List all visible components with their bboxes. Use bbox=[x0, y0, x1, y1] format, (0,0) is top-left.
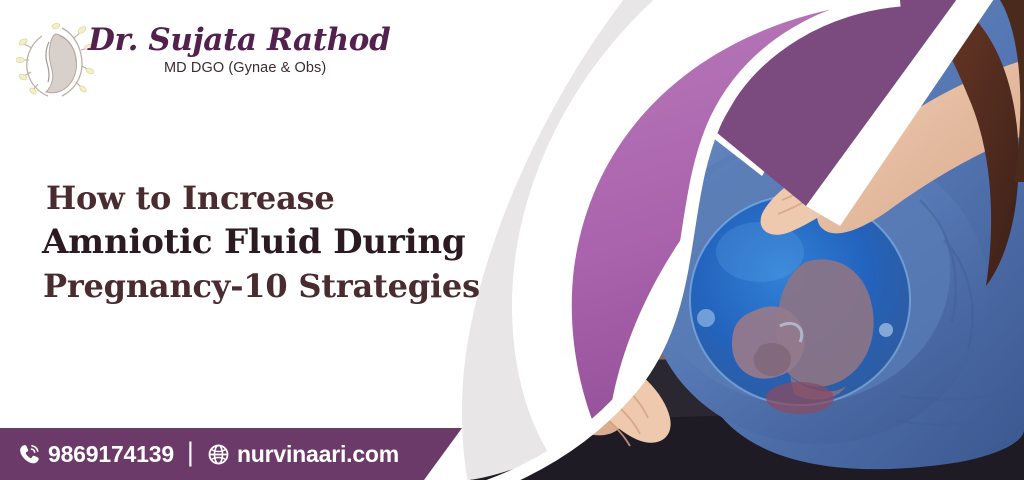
headline-line-3: Pregnancy-10 Strategies bbox=[43, 264, 516, 308]
doctor-name: Dr. Sujata Rathod bbox=[88, 24, 354, 57]
purple-band bbox=[690, 0, 1024, 226]
headline-line-2: Amniotic Fluid During bbox=[42, 220, 516, 264]
fetus-illustration bbox=[690, 195, 910, 414]
woman-profile-branch-logo-icon bbox=[16, 20, 94, 106]
purple-swoosh bbox=[572, 0, 1024, 452]
brand-logo[interactable]: Dr. Sujata Rathod MD DGO (Gynae & Obs) bbox=[14, 18, 354, 110]
doctor-credentials: MD DGO (Gynae & Obs) bbox=[164, 60, 354, 76]
blog-banner: Dr. Sujata Rathod MD DGO (Gynae & Obs) H… bbox=[0, 0, 1024, 480]
globe-icon bbox=[207, 443, 230, 466]
contact-divider: | bbox=[187, 437, 194, 468]
page-title: How to Increase Amniotic Fluid During Pr… bbox=[46, 176, 516, 308]
website-url[interactable]: nurvinaari.com bbox=[237, 441, 399, 468]
hero-photo bbox=[470, 0, 1024, 480]
phone-number[interactable]: 9869174139 bbox=[48, 441, 174, 468]
phone-call-icon bbox=[18, 443, 41, 466]
contact-bar: 9869174139 | nurvinaari.com bbox=[0, 428, 462, 480]
headline-line-1: How to Increase bbox=[46, 176, 516, 220]
contact-bar-content: 9869174139 | nurvinaari.com bbox=[18, 428, 399, 480]
brand-text: Dr. Sujata Rathod MD DGO (Gynae & Obs) bbox=[88, 24, 354, 76]
